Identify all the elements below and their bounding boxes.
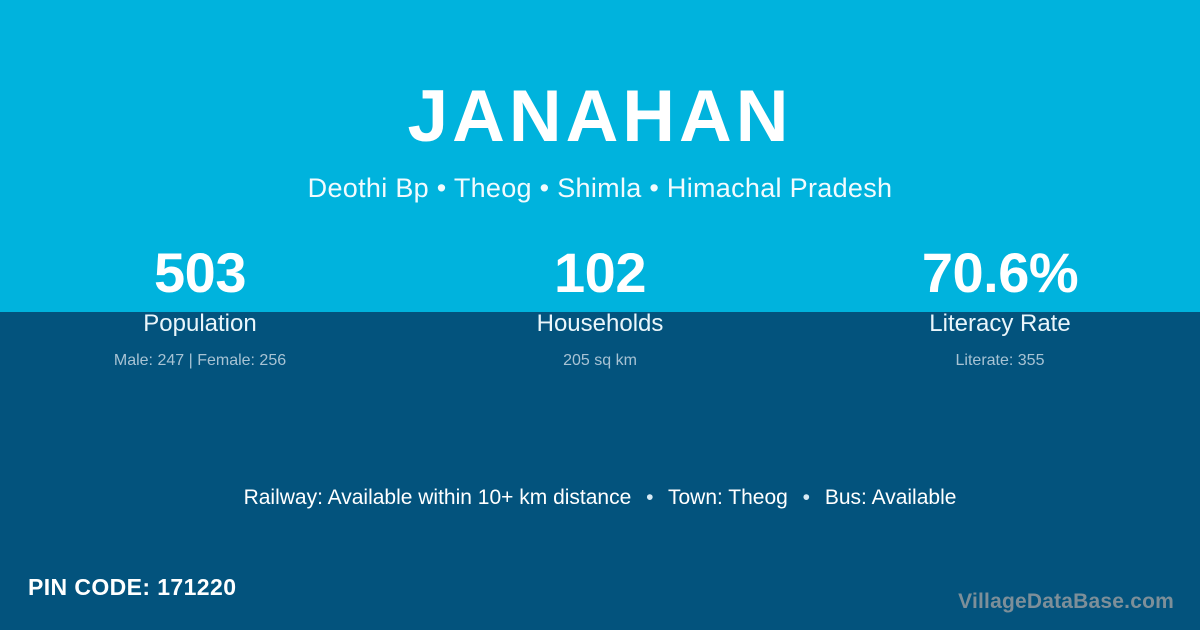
village-info-card: JANAHAN Deothi Bp • Theog • Shimla • Him…	[0, 0, 1200, 630]
stat-households-area: 205 sq km	[400, 353, 800, 369]
stat-households: 102 Households 205 sq km	[400, 245, 800, 369]
card-header: JANAHAN Deothi Bp • Theog • Shimla • Him…	[0, 0, 1200, 202]
stat-literacy: 70.6% Literacy Rate Literate: 355	[800, 245, 1200, 369]
stat-households-label: Households	[400, 312, 800, 336]
transport-town: Town: Theog	[668, 486, 788, 509]
stat-population-value: 503	[0, 245, 400, 312]
transport-separator-1: •	[637, 486, 662, 509]
transport-railway: Railway: Available within 10+ km distanc…	[244, 486, 632, 509]
stat-population: 503 Population Male: 247 | Female: 256	[0, 245, 400, 369]
stat-literacy-label: Literacy Rate	[800, 312, 1200, 336]
stat-households-value: 102	[400, 245, 800, 312]
stat-literacy-count: Literate: 355	[800, 353, 1200, 369]
site-brand: VillageDataBase.com	[958, 591, 1174, 612]
pin-code: PIN CODE: 171220	[28, 576, 236, 599]
page-title: JANAHAN	[0, 80, 1200, 153]
transport-bus: Bus: Available	[825, 486, 957, 509]
stat-population-label: Population	[0, 312, 400, 336]
breadcrumb: Deothi Bp • Theog • Shimla • Himachal Pr…	[0, 175, 1200, 202]
statistics-row: 503 Population Male: 247 | Female: 256 1…	[0, 245, 1200, 369]
transport-info: Railway: Available within 10+ km distanc…	[0, 487, 1200, 508]
transport-separator-2: •	[794, 486, 819, 509]
stat-literacy-value: 70.6%	[800, 245, 1200, 312]
stat-population-breakdown: Male: 247 | Female: 256	[0, 353, 400, 369]
